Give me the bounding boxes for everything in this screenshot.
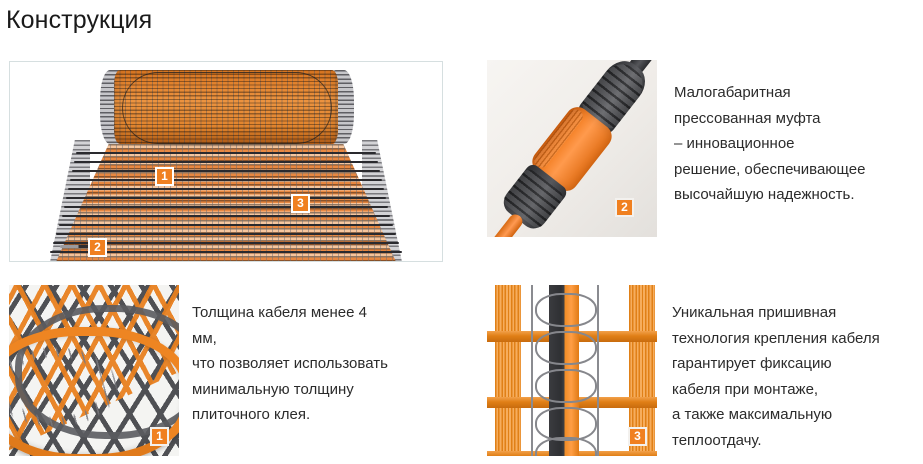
mesh-warp-left xyxy=(495,285,521,456)
badge-3[interactable]: 3 xyxy=(291,194,310,213)
badge-3[interactable]: 3 xyxy=(628,427,647,446)
coupling-caption: Малогабаритная прессованная муфта – инно… xyxy=(674,80,919,208)
sewn-fixing-image: 3 xyxy=(487,285,657,456)
badge-2[interactable]: 2 xyxy=(88,238,107,257)
cable-on-mesh-image: 1 xyxy=(9,285,179,456)
sewn-technology-caption: Уникальная пришивная технология креплени… xyxy=(672,300,922,453)
badge-2[interactable]: 2 xyxy=(615,198,634,217)
stitch-loop xyxy=(535,407,597,441)
stitch-loop xyxy=(535,331,597,365)
coupling-orange-cable xyxy=(487,211,525,237)
badge-1[interactable]: 1 xyxy=(155,167,174,186)
stitch-loop xyxy=(535,437,597,456)
construction-page: Конструкция xyxy=(0,0,923,464)
pressed-coupling-image: 2 xyxy=(487,60,657,237)
badge-1[interactable]: 1 xyxy=(150,427,169,446)
stitch-loop xyxy=(535,369,597,403)
panel-sewn-technology: 3 Уникальная пришивная технология крепле… xyxy=(0,0,170,171)
stitch-loop xyxy=(535,293,597,327)
cable-thickness-caption: Толщина кабеля менее 4 мм, что позволяет… xyxy=(192,300,437,428)
